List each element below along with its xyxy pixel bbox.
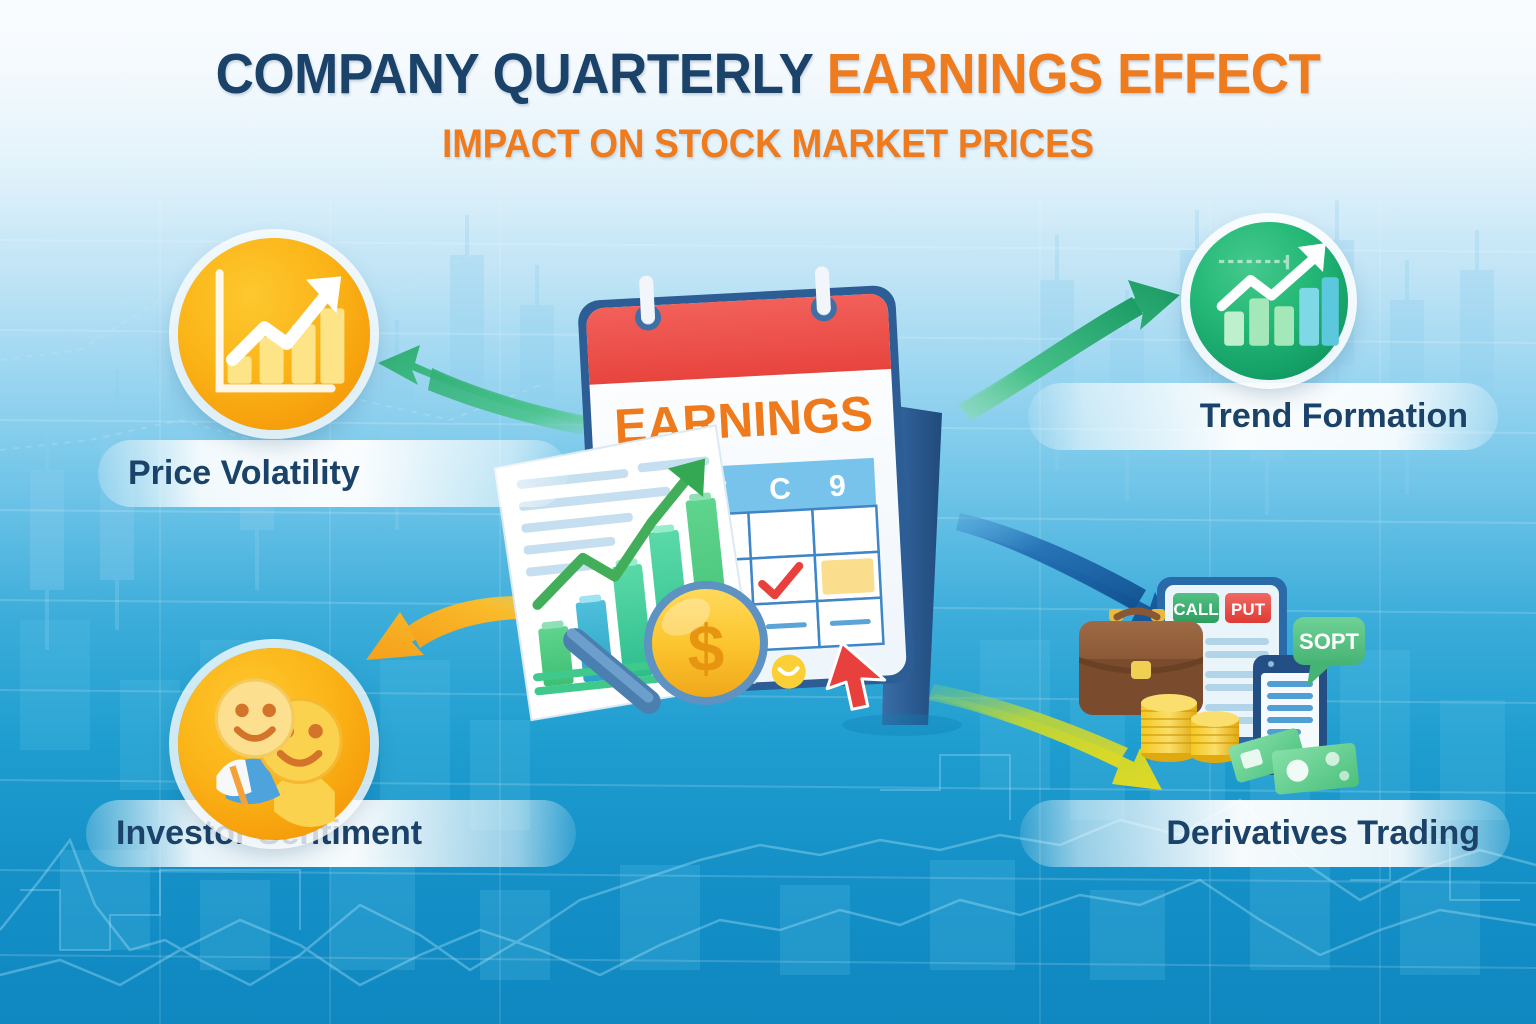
call-label: CALL — [1173, 600, 1218, 619]
price-volatility-icon-circle[interactable] — [178, 238, 370, 430]
infographic-canvas: EARNINGS Γ F C 9 — [0, 0, 1536, 1024]
trend-chart-icon — [1190, 222, 1348, 380]
derivatives-trading-label-pill[interactable]: Derivatives Trading — [1020, 800, 1510, 867]
page-subtitle: IMPACT ON STOCK MARKET PRICES — [61, 122, 1474, 167]
calendar-highlight-cell — [821, 558, 875, 595]
bar-chart-up-icon — [178, 238, 370, 430]
calendar-weekday-2: C — [768, 472, 791, 506]
two-smiley-faces-icon — [178, 648, 370, 840]
sopt-label: SOPT — [1299, 629, 1359, 654]
price-volatility-label: Price Volatility — [128, 454, 360, 493]
investor-sentiment-icon-circle[interactable] — [178, 648, 370, 840]
page-title-navy-part: COMPANY QUARTERLY — [216, 42, 813, 106]
derivatives-trading-illustration: CALL PUT — [1065, 555, 1405, 820]
header-block: COMPANY QUARTERLY EARNINGS EFFECT IMPACT… — [0, 46, 1536, 167]
calendar-header-band — [586, 293, 892, 385]
earnings-calendar-illustration: EARNINGS Γ F C 9 — [490, 255, 1010, 745]
page-title: COMPANY QUARTERLY EARNINGS EFFECT — [54, 46, 1482, 103]
price-volatility-label-pill[interactable]: Price Volatility — [98, 440, 568, 507]
trend-formation-label-pill[interactable]: Trend Formation — [1028, 383, 1498, 450]
trend-formation-label: Trend Formation — [1200, 397, 1468, 436]
trend-formation-icon-circle[interactable] — [1190, 222, 1348, 380]
derivatives-trading-label: Derivatives Trading — [1166, 814, 1480, 853]
put-label: PUT — [1231, 600, 1266, 619]
calendar-weekday-3: 9 — [828, 469, 846, 503]
page-title-orange-part: EARNINGS EFFECT — [827, 42, 1321, 106]
